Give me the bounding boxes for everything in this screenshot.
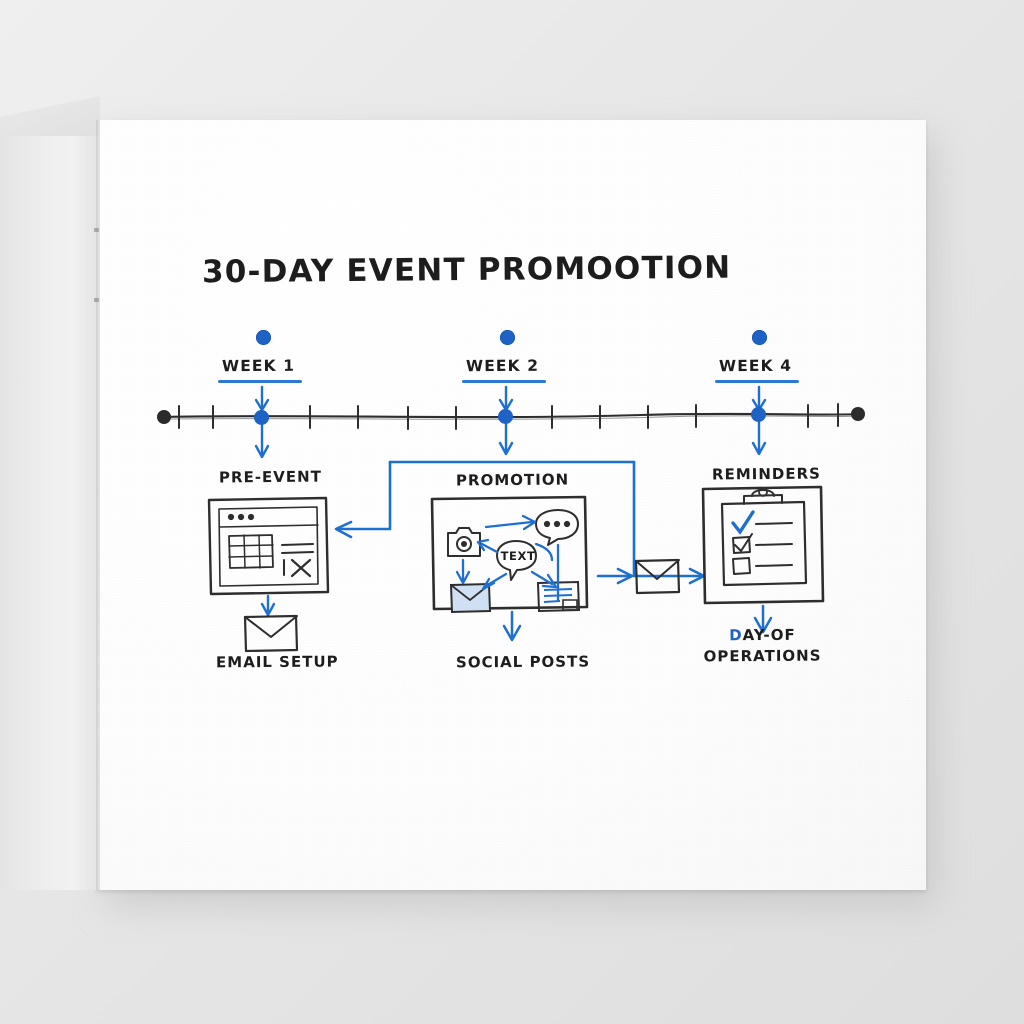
blue-check-icon [733, 512, 753, 532]
day-of-initial: D [729, 626, 743, 644]
day-of-line2: OPERATIONS [704, 647, 822, 666]
day-of-rest: AY-OF [743, 626, 796, 644]
output-label-day-of-operations: DAY-OF OPERATIONS [700, 625, 825, 668]
day-of-line1: DAY-OF [729, 626, 796, 644]
reminders-card[interactable] [0, 0, 1024, 1024]
scene: 30-DAY EVENT PROMOOTION WEEK 1 WEEK 2 WE [0, 0, 1024, 1024]
